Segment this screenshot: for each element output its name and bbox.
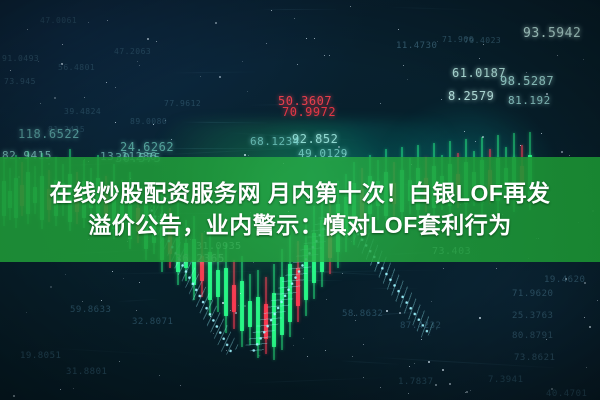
headline-line-2: 溢价公告，业内警示：慎对LOF套利行为 — [88, 210, 512, 242]
news-thumbnail-image: 93.594261.018798.52878.257981.19250.3607… — [0, 0, 600, 400]
headline-line-1: 在线炒股配资服务网 月内第十次！白银LOF再发 — [50, 178, 551, 210]
headline-banner: 在线炒股配资服务网 月内第十次！白银LOF再发 溢价公告，业内警示：慎对LOF套… — [0, 157, 600, 262]
